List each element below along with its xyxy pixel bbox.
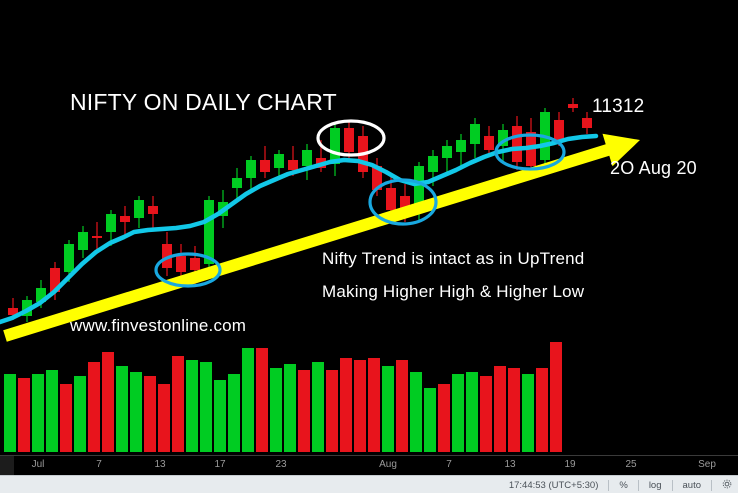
candle-body [190,258,200,270]
volume-bar [508,368,520,452]
clock-label: 17:44:53 (UTC+5:30) [499,477,609,493]
volume-bar [60,384,72,452]
candle-body [92,236,102,238]
volume-bar [340,358,352,452]
candle-body [344,128,354,152]
log-toggle-button[interactable]: log [639,477,672,493]
axis-tick-label: Aug [379,459,397,470]
candle-body [554,120,564,140]
chart-canvas[interactable] [0,0,738,455]
candle-body [64,244,74,272]
axis-tick-label: Sep [698,459,716,470]
axis-tick-label: 7 [446,459,452,470]
candle-body [274,154,284,168]
volume-bar [256,348,268,452]
volume-bar [74,376,86,452]
candle-body [288,160,298,170]
volume-bar [172,356,184,452]
candle-body [260,160,270,172]
volume-bar [270,368,282,452]
candle-body [246,160,256,178]
volume-bar [368,358,380,452]
volume-bar [4,374,16,452]
volume-bar [452,374,464,452]
axis-tick-label: 7 [96,459,102,470]
analysis-note-line-1: Nifty Trend is intact as in UpTrend [322,249,584,269]
volume-bar [18,378,30,452]
volume-bar [242,348,254,452]
candle-body [204,200,214,264]
volume-bar [494,366,506,452]
volume-bar [186,360,198,452]
analysis-note-line-2: Making Higher High & Higher Low [322,282,584,302]
volume-bar [46,370,58,452]
last-date-label: 2O Aug 20 [610,158,697,179]
volume-bar [410,372,422,452]
nifty-chart-screenshot: NIFTY ON DAILY CHART 11312 2O Aug 20 Nif… [0,0,738,493]
volume-bar [550,342,562,452]
volume-bar [284,364,296,452]
volume-bars [4,342,562,452]
volume-bar [298,370,310,452]
candle-body [148,206,158,214]
candle-body [428,156,438,172]
volume-bar [536,368,548,452]
volume-bar [326,370,338,452]
candle-body [442,146,452,158]
volume-bar [438,384,450,452]
candle-body [386,188,396,210]
volume-bar [214,380,226,452]
volume-bar [32,374,44,452]
candle-body [470,124,480,144]
gear-icon[interactable] [712,479,738,492]
candle-body [302,150,312,166]
candle-body [232,178,242,188]
volume-bar [116,366,128,452]
last-price-label: 11312 [592,96,644,118]
candle-body [106,214,116,232]
candle-body [456,140,466,152]
volume-bar [522,374,534,452]
axis-tick-label: 23 [275,459,286,470]
volume-bar [382,366,394,452]
candle-body [512,126,522,162]
volume-bar [228,374,240,452]
axis-scrub-handle[interactable] [0,456,14,476]
axis-tick-label: 25 [625,459,636,470]
volume-bar [130,372,142,452]
volume-bar [158,384,170,452]
volume-bar [466,372,478,452]
candle-body [176,256,186,272]
percent-toggle-button[interactable]: % [609,477,637,493]
candle-body [484,136,494,150]
candle-body [134,200,144,218]
axis-tick-label: 13 [154,459,165,470]
volume-bar [102,352,114,452]
watermark-url: www.finvestonline.com [70,316,246,336]
candle-body [582,118,592,128]
chart-svg [0,0,738,455]
candle-body [78,232,88,250]
volume-bar [200,362,212,452]
axis-tick-label: Jul [32,459,45,470]
volume-bar [396,360,408,452]
volume-bar [480,376,492,452]
volume-bar [354,360,366,452]
volume-bar [312,362,324,452]
candle-body [120,216,130,222]
volume-bar [424,388,436,452]
axis-tick-label: 13 [504,459,515,470]
volume-bar [88,362,100,452]
status-bar: 17:44:53 (UTC+5:30) % log auto [0,475,738,493]
page-title: NIFTY ON DAILY CHART [70,89,337,116]
candle-body [568,104,578,108]
axis-tick-label: 17 [214,459,225,470]
auto-toggle-button[interactable]: auto [673,477,712,493]
volume-bar [144,376,156,452]
time-axis[interactable]: Jul7131723Aug7131925Sep [0,455,738,476]
axis-tick-label: 19 [564,459,575,470]
